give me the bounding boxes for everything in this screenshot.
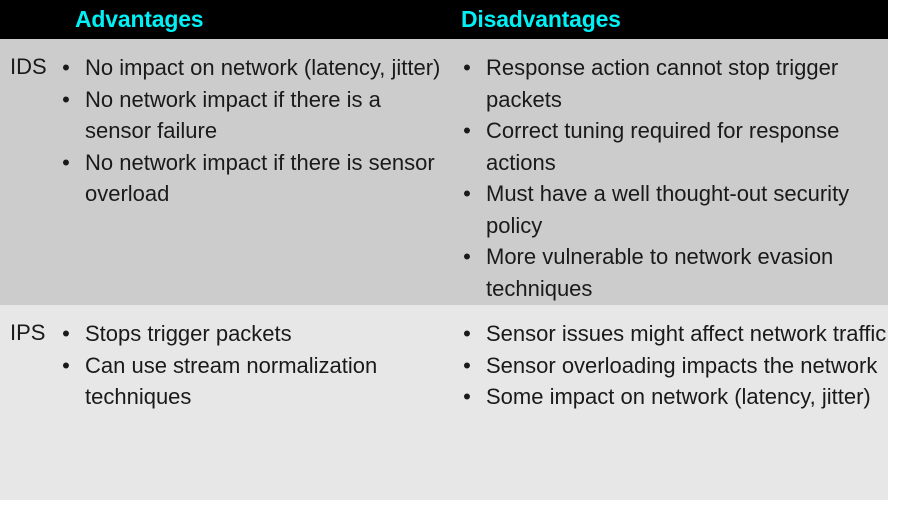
list-item-text: Correct tuning required for response act… bbox=[486, 115, 887, 178]
cell-ips-advantages: • Stops trigger packets • Can use stream… bbox=[56, 318, 446, 413]
list-item-text: No network impact if there is sensor ove… bbox=[85, 147, 446, 210]
list-item: • No impact on network (latency, jitter) bbox=[56, 52, 446, 84]
list-item: • Response action cannot stop trigger pa… bbox=[457, 52, 887, 115]
list-item-text: Some impact on network (latency, jitter) bbox=[486, 381, 887, 413]
row-label-ids: IDS bbox=[10, 54, 47, 80]
list-item-text: No impact on network (latency, jitter) bbox=[85, 52, 446, 84]
list-item: • Must have a well thought-out security … bbox=[457, 178, 887, 241]
list-item: • Sensor issues might affect network tra… bbox=[457, 318, 887, 350]
bullet-icon: • bbox=[461, 381, 473, 413]
bullet-icon: • bbox=[461, 241, 473, 273]
right-margin bbox=[888, 0, 893, 509]
list-item-text: Sensor issues might affect network traff… bbox=[486, 318, 887, 350]
cell-ips-disadvantages: • Sensor issues might affect network tra… bbox=[457, 318, 887, 413]
list-item: • Sensor overloading impacts the network bbox=[457, 350, 887, 382]
list-item-text: Must have a well thought-out security po… bbox=[486, 178, 887, 241]
list-item: • Stops trigger packets bbox=[56, 318, 446, 350]
list-item-text: More vulnerable to network evasion techn… bbox=[486, 241, 887, 304]
list-item: • More vulnerable to network evasion tec… bbox=[457, 241, 887, 304]
list-item-text: No network impact if there is a sensor f… bbox=[85, 84, 446, 147]
list-item-text: Stops trigger packets bbox=[85, 318, 446, 350]
table-header-row: Advantages Disadvantages bbox=[0, 0, 893, 39]
bullet-list-ips-advantages: • Stops trigger packets • Can use stream… bbox=[56, 318, 446, 413]
bullet-icon: • bbox=[461, 350, 473, 382]
bullet-icon: • bbox=[60, 350, 72, 382]
row-label-ips: IPS bbox=[10, 320, 45, 346]
bullet-list-ips-disadvantages: • Sensor issues might affect network tra… bbox=[457, 318, 887, 413]
list-item: • Some impact on network (latency, jitte… bbox=[457, 381, 887, 413]
bullet-icon: • bbox=[461, 115, 473, 147]
bottom-margin bbox=[0, 501, 898, 505]
list-item: • No network impact if there is sensor o… bbox=[56, 147, 446, 210]
bullet-icon: • bbox=[461, 52, 473, 84]
ids-ips-comparison-table: Advantages Disadvantages IDS • No impact… bbox=[0, 0, 893, 505]
list-item-text: Response action cannot stop trigger pack… bbox=[486, 52, 887, 115]
list-item-text: Can use stream normalization techniques bbox=[85, 350, 446, 413]
column-header-disadvantages: Disadvantages bbox=[461, 0, 621, 39]
column-header-advantages: Advantages bbox=[75, 0, 203, 39]
list-item: • Can use stream normalization technique… bbox=[56, 350, 446, 413]
table-row-ips: IPS • Stops trigger packets • Can use st… bbox=[0, 305, 893, 500]
cell-ids-disadvantages: • Response action cannot stop trigger pa… bbox=[457, 52, 887, 304]
bullet-list-ids-advantages: • No impact on network (latency, jitter)… bbox=[56, 52, 446, 210]
bullet-icon: • bbox=[60, 147, 72, 179]
bullet-list-ids-disadvantages: • Response action cannot stop trigger pa… bbox=[457, 52, 887, 304]
bullet-icon: • bbox=[60, 84, 72, 116]
table-row-ids: IDS • No impact on network (latency, jit… bbox=[0, 39, 893, 305]
list-item: • No network impact if there is a sensor… bbox=[56, 84, 446, 147]
list-item-text: Sensor overloading impacts the network bbox=[486, 350, 887, 382]
list-item: • Correct tuning required for response a… bbox=[457, 115, 887, 178]
bullet-icon: • bbox=[60, 52, 72, 84]
bullet-icon: • bbox=[461, 178, 473, 210]
cell-ids-advantages: • No impact on network (latency, jitter)… bbox=[56, 52, 446, 210]
bullet-icon: • bbox=[461, 318, 473, 350]
bullet-icon: • bbox=[60, 318, 72, 350]
